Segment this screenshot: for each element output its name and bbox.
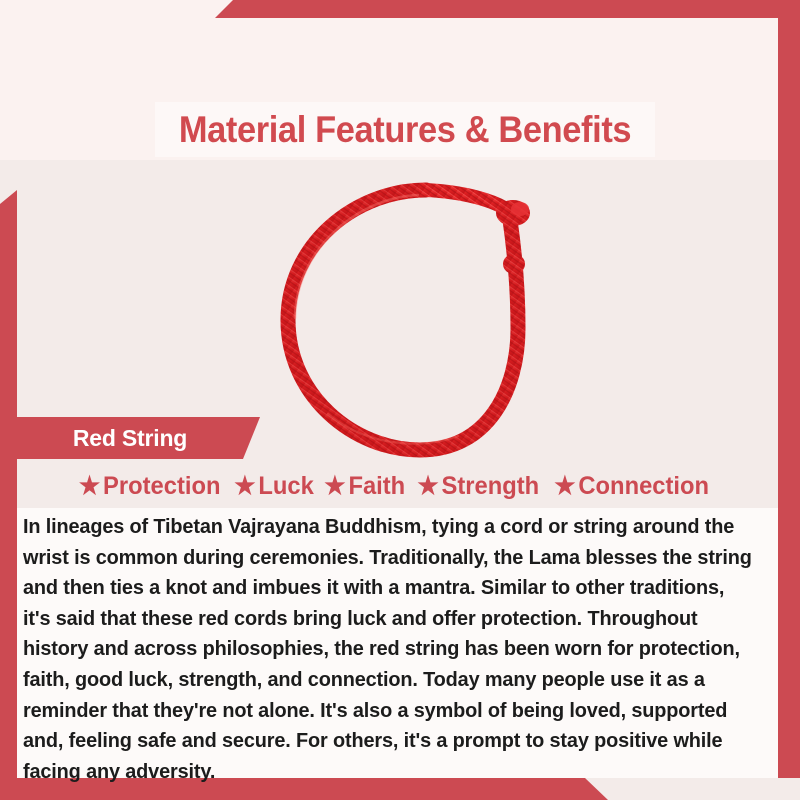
feature-item-faith: ★ Faith (325, 472, 413, 501)
page-title: Material Features & Benefits (173, 102, 638, 157)
star-icon: ★ (554, 474, 575, 499)
decorative-band-left (0, 190, 17, 800)
feature-label-faith: Faith (349, 472, 406, 501)
star-icon: ★ (418, 474, 439, 499)
decorative-band-top (215, 0, 800, 18)
feature-list: ★ Protection ★ Luck ★ Faith ★ Strength ★… (17, 466, 778, 506)
feature-item-luck: ★ Luck (234, 472, 320, 501)
feature-item-protection: ★ Protection (79, 472, 227, 501)
feature-label-strength: Strength (442, 472, 540, 501)
decorative-band-right (778, 0, 800, 800)
star-icon: ★ (234, 474, 255, 499)
feature-item-strength: ★ Strength (418, 472, 546, 501)
description-paragraph: In lineages of Tibetan Vajrayana Buddhis… (23, 512, 752, 787)
feature-label-connection: Connection (578, 472, 709, 501)
star-icon: ★ (325, 474, 346, 499)
product-image-red-string-bracelet (268, 168, 568, 468)
feature-label-protection: Protection (104, 472, 221, 501)
material-label-text: Red String (17, 417, 243, 459)
star-icon: ★ (79, 474, 100, 499)
product-infographic-poster: Material Features & Benefits (0, 0, 800, 800)
feature-label-luck: Luck (258, 472, 313, 501)
feature-item-connection: ★ Connection (554, 472, 715, 501)
